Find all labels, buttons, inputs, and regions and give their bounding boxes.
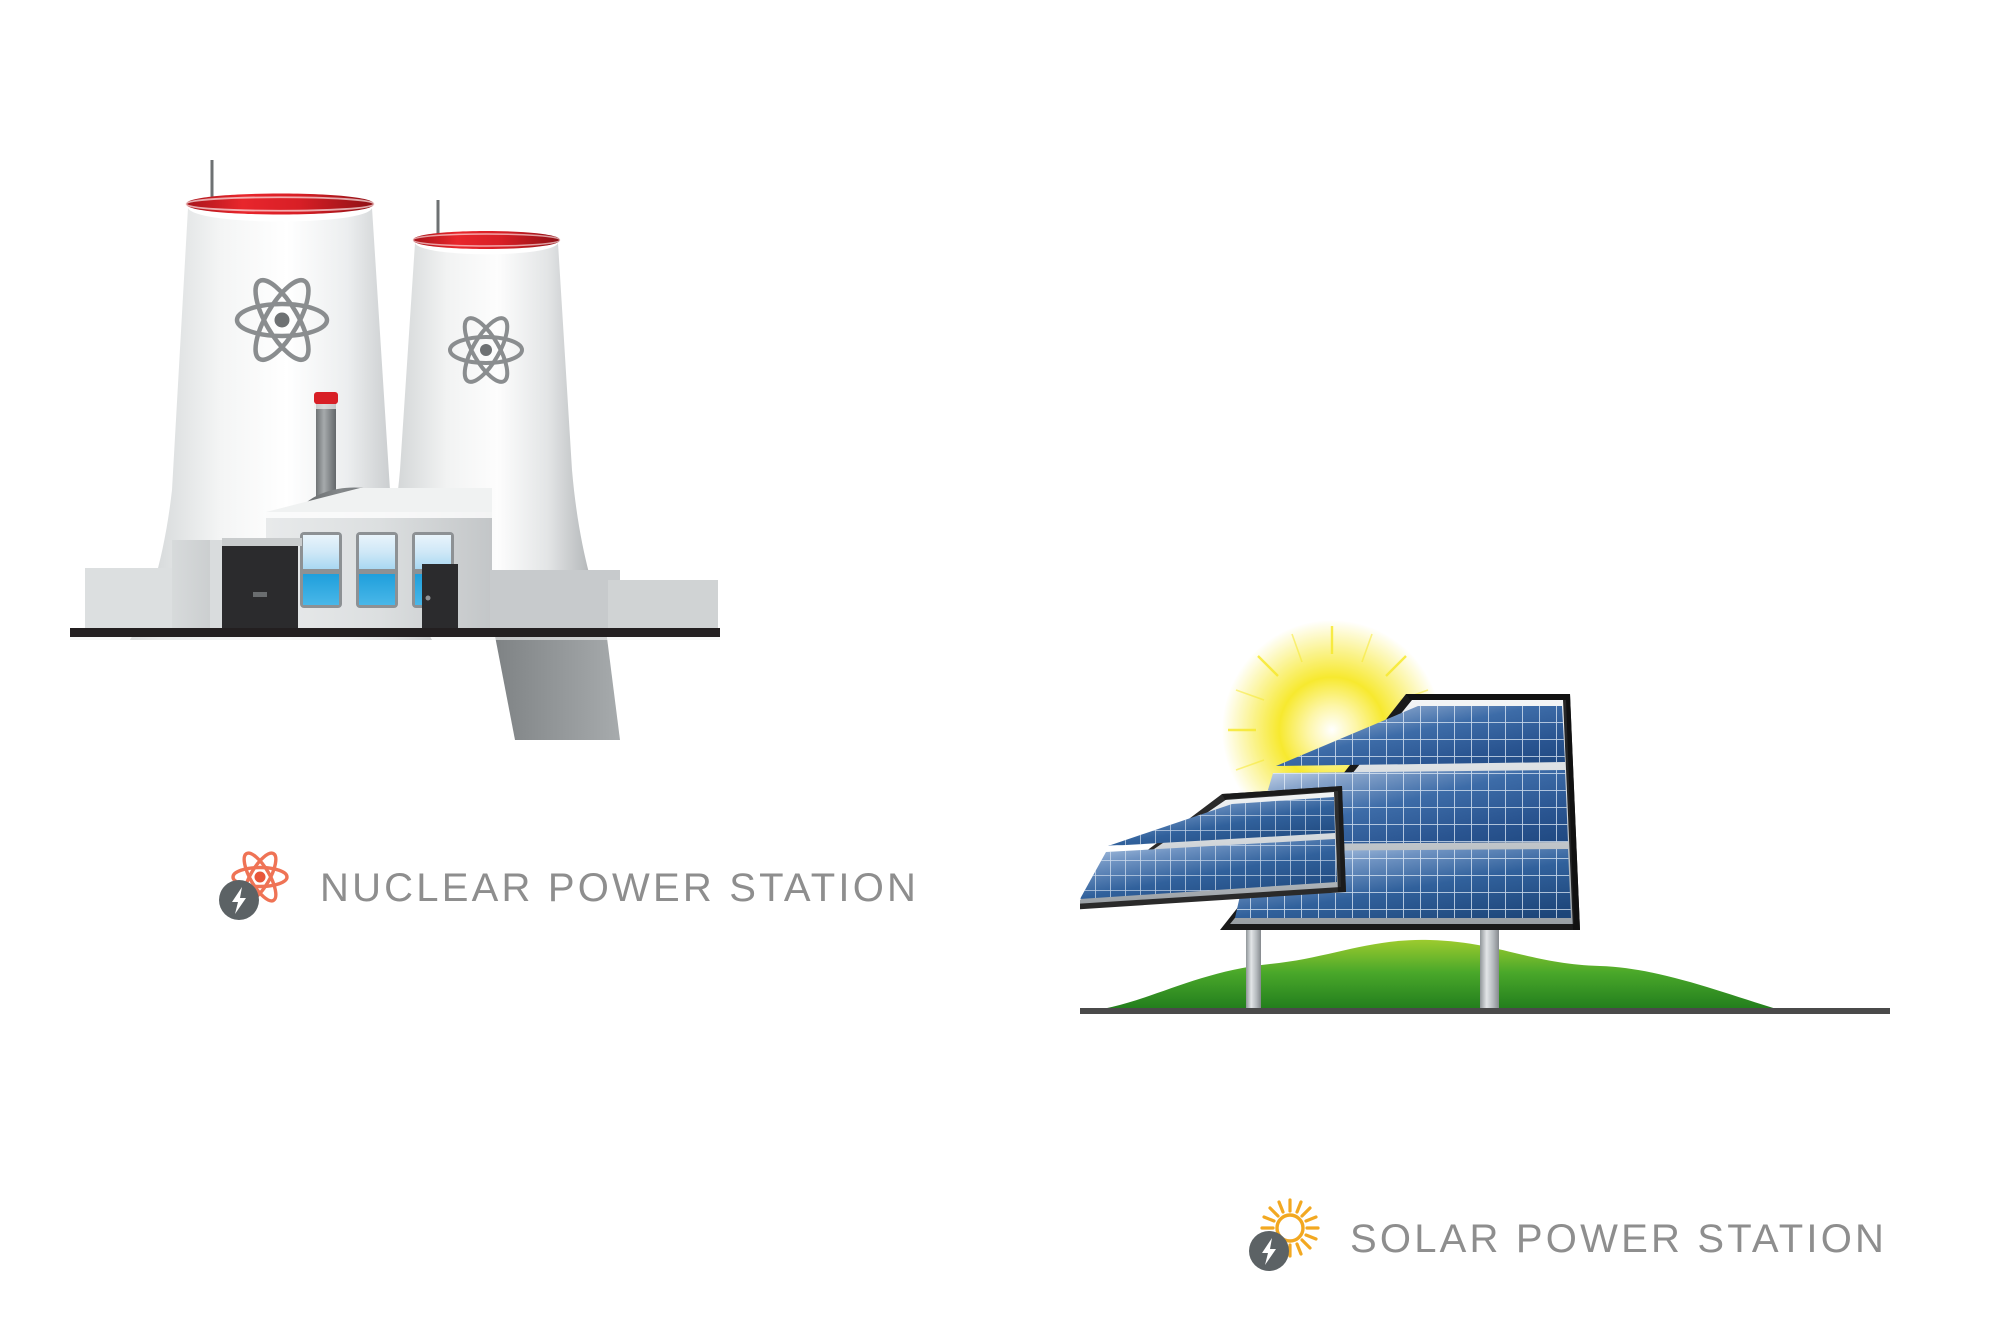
building-window <box>300 532 342 608</box>
building-window <box>356 532 398 608</box>
bolt-badge-icon <box>219 880 259 920</box>
ground-line <box>1080 1008 1890 1014</box>
reactor-building <box>266 488 492 630</box>
ground-line <box>70 628 720 637</box>
solar-power-station-label-row: SOLAR POWER STATION <box>1242 1196 1887 1282</box>
solar-power-station-label: SOLAR POWER STATION <box>1350 1217 1887 1262</box>
base-block-far-right <box>608 580 718 628</box>
sun-with-bolt-icon <box>1242 1196 1328 1282</box>
bolt-badge-icon <box>1249 1231 1289 1271</box>
atom-with-bolt-icon <box>212 845 298 931</box>
solar-power-station-illustration <box>1080 620 1900 1150</box>
nuclear-power-station-label: NUCLEAR POWER STATION <box>320 866 919 911</box>
grass-mound <box>1080 940 1780 1012</box>
nuclear-power-station-illustration <box>60 140 760 830</box>
illustration-canvas: NUCLEAR POWER STATION <box>0 0 2000 1332</box>
nuclear-power-station-label-row: NUCLEAR POWER STATION <box>212 845 919 931</box>
plant-gate <box>210 538 302 630</box>
base-block-right <box>490 570 620 628</box>
solar-panel-array-front <box>1080 786 1346 910</box>
